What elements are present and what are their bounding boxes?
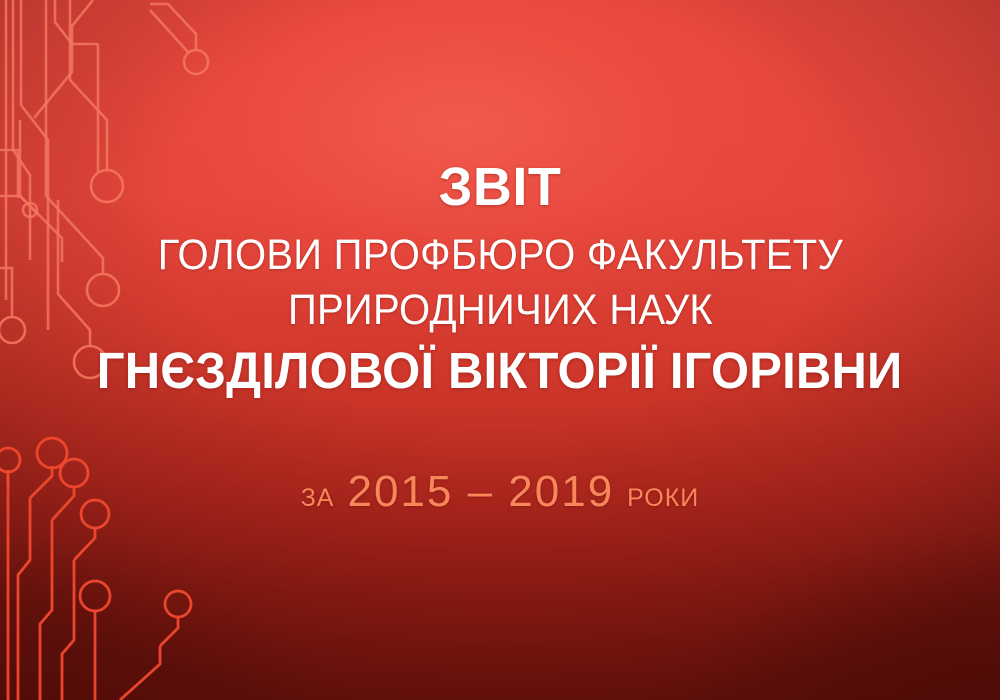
period-preposition: ЗА	[301, 484, 335, 513]
title-slide: ЗВІТ ГОЛОВИ ПРОФБЮРО ФАКУЛЬТЕТУ ПРИРОДНИ…	[0, 0, 1000, 700]
subtitle-line-1: ГОЛОВИ ПРОФБЮРО ФАКУЛЬТЕТУ	[157, 228, 842, 283]
reporting-period: ЗА 2015 – 2019 РОКИ	[301, 467, 700, 517]
page-title: ЗВІТ	[439, 160, 562, 214]
subtitle-block: ГОЛОВИ ПРОФБЮРО ФАКУЛЬТЕТУ ПРИРОДНИЧИХ Н…	[132, 228, 869, 338]
subtitle-line-2: ПРИРОДНИЧИХ НАУК	[157, 283, 842, 338]
period-years: 2015 – 2019	[347, 467, 614, 517]
period-noun: РОКИ	[627, 484, 699, 513]
person-name: ГНЄЗДІЛОВОЇ ВІКТОРІЇ ІГОРІВНИ	[97, 342, 903, 399]
slide-content: ЗВІТ ГОЛОВИ ПРОФБЮРО ФАКУЛЬТЕТУ ПРИРОДНИ…	[0, 0, 1000, 700]
